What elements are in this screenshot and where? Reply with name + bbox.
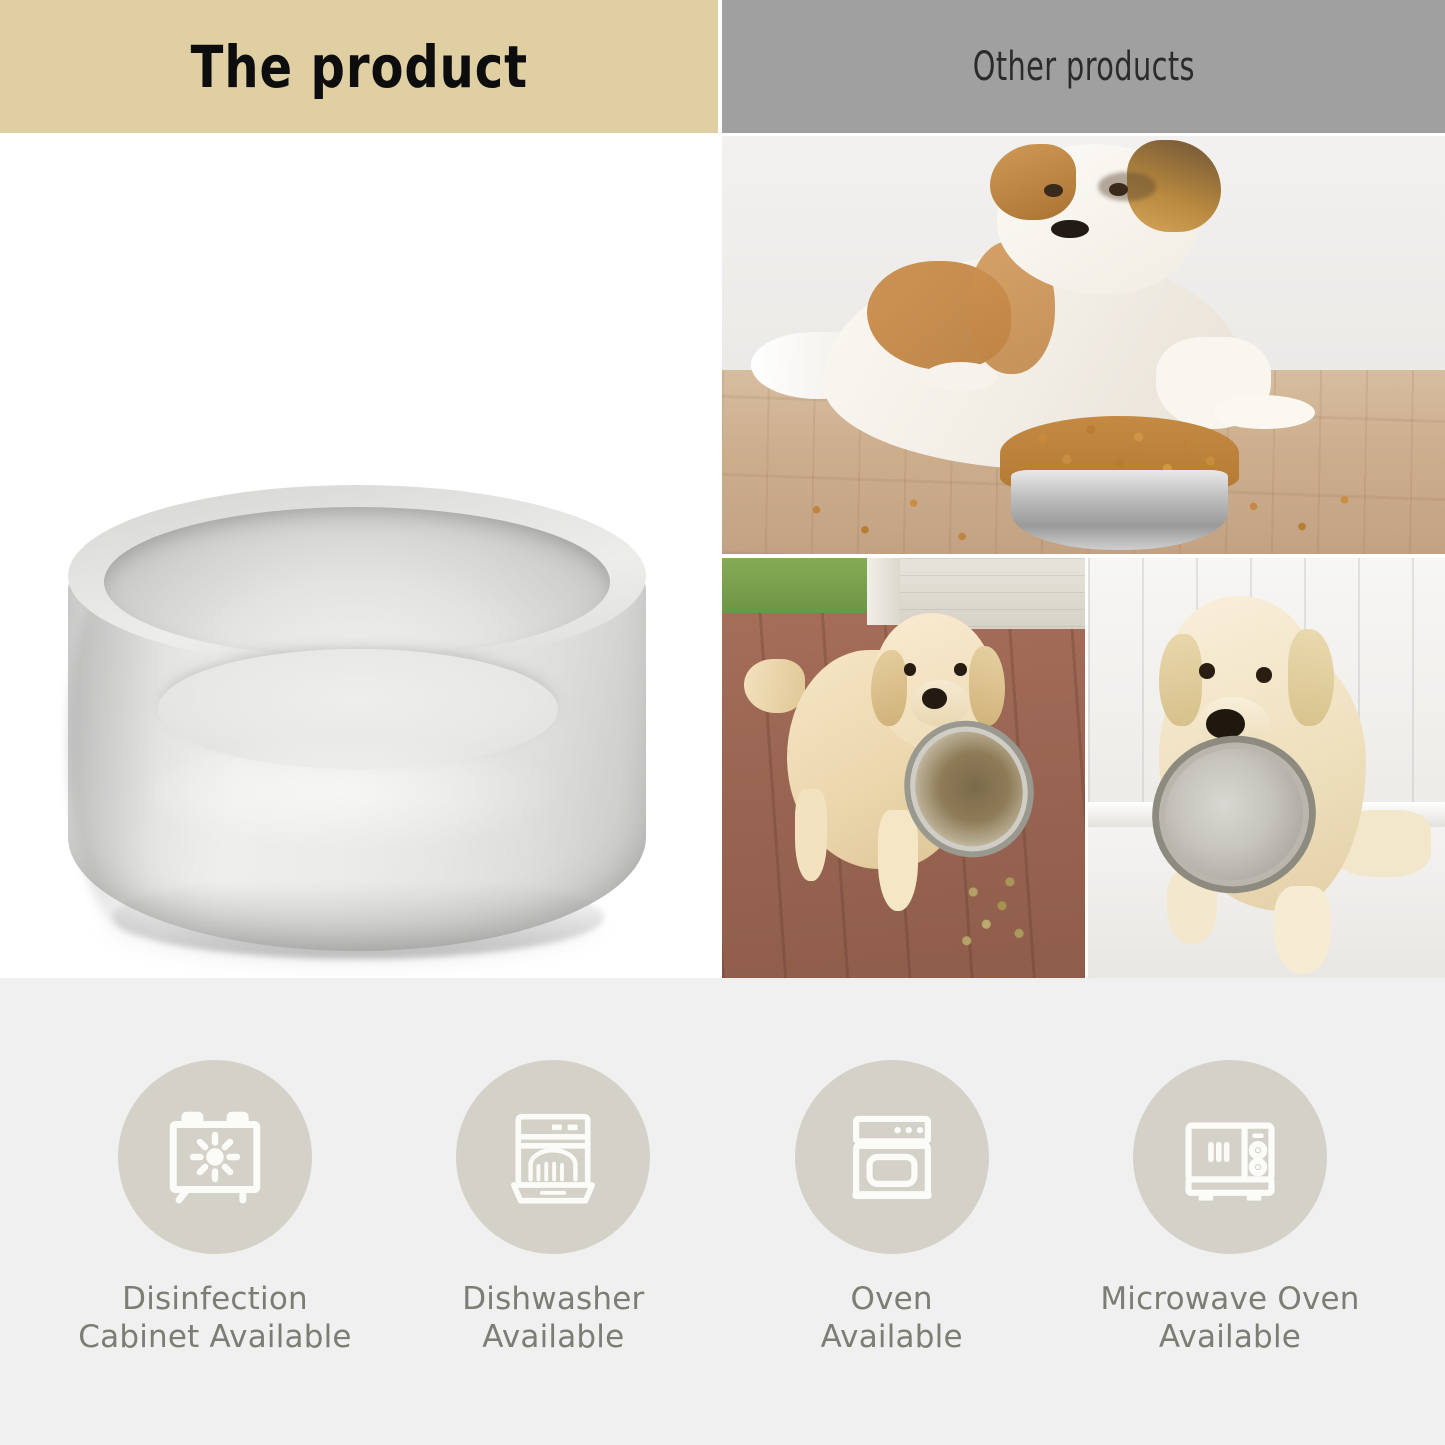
features-strip: Disinfection Cabinet Available [0,978,1445,1445]
feature-label-line2: Available [462,1318,644,1356]
gallery-photo-golden-puppy-carrying-bowl [722,558,1085,978]
feature-label-line1: Oven [821,1280,963,1318]
feature-label-line2: Cabinet Available [78,1318,351,1356]
header-the-product-title: The product [190,33,527,101]
scattered-kibble [947,869,1078,961]
puppy-ear-left [871,650,907,726]
puppy-nose [1206,709,1245,738]
puppy-eye-left [1199,663,1215,679]
feature-label-line2: Available [821,1318,963,1356]
puppy-ear-left [1159,634,1202,726]
puppy-leg [878,810,918,911]
feature-label-line1: Microwave Oven [1100,1280,1359,1318]
feature-icon-badge [795,1060,989,1254]
feature-disinfection-cabinet: Disinfection Cabinet Available [60,978,370,1357]
feature-label: Dishwasher Available [462,1280,644,1357]
puppy-eye-left [904,663,916,676]
gallery-photo-labrador-puppy-carrying-bowl [1088,558,1445,978]
dog-paw [924,362,996,391]
feature-label-line1: Disinfection [78,1280,351,1318]
feature-icon-badge [456,1060,650,1254]
feature-label-line2: Available [1100,1318,1359,1356]
feature-icon-badge [118,1060,312,1254]
other-products-gallery [722,136,1445,978]
product-bowl-image [0,133,718,978]
feature-dishwasher: Dishwasher Available [398,978,708,1357]
product-infographic: The product Other products [0,0,1445,1445]
oven-icon [836,1101,948,1213]
dog-ear-left [990,144,1077,219]
header-other-products-title: Other products [972,44,1194,90]
dishwasher-icon [497,1101,609,1213]
bowl-highlight [150,733,570,853]
feature-oven: Oven Available [737,978,1047,1357]
photo-grass-background [722,558,867,613]
gallery-photo-terrier-with-food-bowl [722,136,1445,554]
puppy-ear-right [1288,629,1334,726]
puppy-leg [1274,886,1331,974]
disinfection-cabinet-icon [157,1099,273,1215]
puppy-leg [795,789,828,881]
feature-label: Microwave Oven Available [1100,1280,1359,1357]
header-the-product: The product [0,0,718,133]
microwave-oven-icon [1174,1101,1286,1213]
bowl-base-contact [112,875,604,959]
header-other-products: Other products [722,0,1445,133]
feature-label: Oven Available [821,1280,963,1357]
feature-label: Disinfection Cabinet Available [78,1280,351,1357]
feature-microwave-oven: Microwave Oven Available [1075,978,1385,1357]
dog-nose [1051,220,1089,238]
puppy-nose [922,688,947,709]
photo-porch-post [867,558,900,625]
dog-eye-right [1109,183,1128,196]
feature-label-line1: Dishwasher [462,1280,644,1318]
dog-paw [1214,395,1315,428]
stainless-food-bowl [1011,470,1228,549]
feature-icon-badge [1133,1060,1327,1254]
puppy-eye-right [954,663,966,676]
product-photo-panel [0,133,718,978]
